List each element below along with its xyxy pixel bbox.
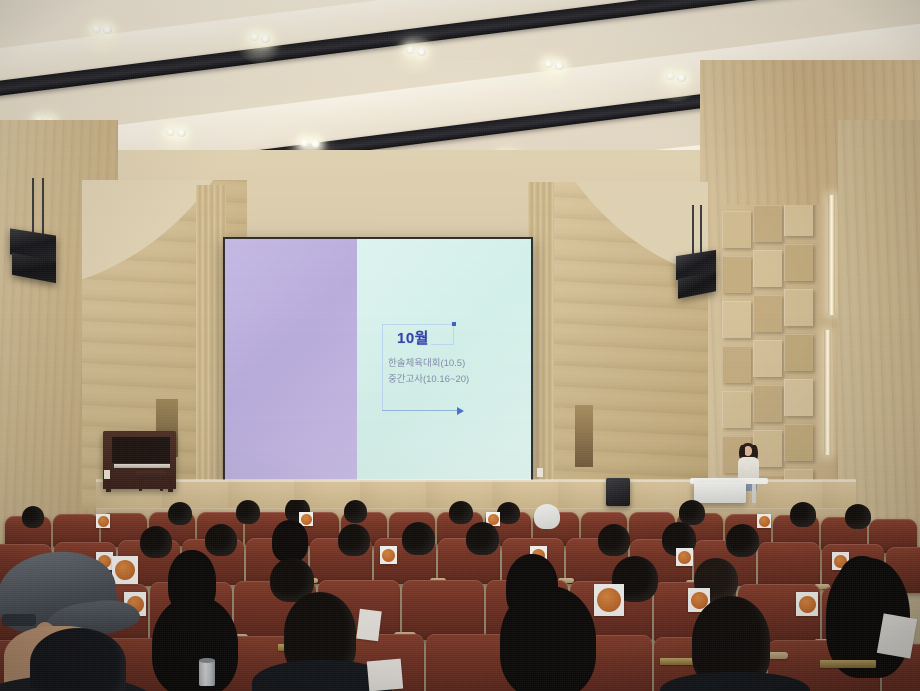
audience-seating xyxy=(0,500,920,691)
slide-bracket-vertical xyxy=(382,324,383,410)
audience-head xyxy=(140,526,172,558)
spotlight-5b xyxy=(677,74,686,82)
audience-head xyxy=(449,501,473,524)
slide-bracket-under-title xyxy=(431,344,454,345)
acoustic-block xyxy=(753,205,782,242)
auditorium-photo: 10월 한솔체육대회(10.5) 중간고사(10.16~20) xyxy=(0,0,920,691)
audience-head xyxy=(790,502,816,527)
speaker-rod xyxy=(42,178,44,240)
spotlight-3a xyxy=(406,46,415,54)
handout-paper[interactable] xyxy=(356,609,381,641)
handout-paper[interactable] xyxy=(877,613,917,658)
wall-outlet-left xyxy=(104,470,110,479)
spotlight-9b xyxy=(311,140,320,148)
audience-head xyxy=(205,524,237,556)
slide-arrow-icon xyxy=(457,407,464,415)
audience-head xyxy=(168,502,192,525)
speaker-rod xyxy=(32,178,34,238)
audience-long-hair xyxy=(272,520,308,562)
spotlight-2b xyxy=(261,35,270,43)
projection-screen: 10월 한솔체육대회(10.5) 중간고사(10.16~20) xyxy=(225,239,531,482)
audience-head xyxy=(845,504,871,529)
slide-left-panel xyxy=(225,239,357,482)
spotlight-8b xyxy=(177,129,186,137)
acoustic-block xyxy=(784,289,813,326)
acoustic-block xyxy=(753,340,782,377)
seat-notice-sticker xyxy=(380,546,397,564)
foreground-student-hair xyxy=(152,596,238,691)
acoustic-block xyxy=(722,346,751,383)
sticker-badge xyxy=(301,514,312,525)
seat-notice-sticker xyxy=(676,548,693,566)
wall-light-slit-2 xyxy=(824,330,831,455)
slide-bracket-top xyxy=(382,324,454,325)
seat-nameplate xyxy=(820,660,876,668)
foreground-student-hair xyxy=(500,586,596,691)
audience-head xyxy=(338,524,370,556)
beverage-can[interactable] xyxy=(199,660,215,686)
speaker-rod xyxy=(692,205,694,257)
spotlight-2a xyxy=(250,33,259,41)
bench-leg-left xyxy=(139,478,142,491)
sticker-badge xyxy=(759,516,770,527)
sticker-badge xyxy=(382,549,395,562)
presenter-face xyxy=(744,446,752,456)
spotlight-1b xyxy=(103,26,112,34)
can-lid xyxy=(199,658,215,663)
acoustic-block xyxy=(722,391,751,428)
speaker-rod xyxy=(700,205,702,259)
line-array-speaker-right xyxy=(676,205,736,315)
audience-head xyxy=(236,500,260,524)
spotlight-5a xyxy=(666,72,675,80)
piano-keyboard xyxy=(114,464,170,468)
seat-notice-sticker xyxy=(796,592,818,616)
arch-right-door-recess xyxy=(575,405,593,467)
wall-light-slit-1 xyxy=(828,195,835,315)
audience-head xyxy=(598,524,630,556)
sticker-badge xyxy=(597,588,621,612)
sticker-badge xyxy=(678,551,691,564)
seat-notice-sticker xyxy=(757,514,771,528)
seat-back[interactable] xyxy=(758,542,820,588)
audience-head xyxy=(679,500,705,525)
spotlight-4b xyxy=(555,62,564,70)
acoustic-block xyxy=(784,205,813,236)
spotlight-1a xyxy=(92,25,101,33)
audience-head xyxy=(497,502,520,524)
handout-paper[interactable] xyxy=(367,659,403,691)
acoustic-block xyxy=(753,295,782,332)
audience-head xyxy=(726,524,759,557)
acoustic-block xyxy=(753,250,782,287)
audience-head-covering xyxy=(534,504,560,529)
audience-head xyxy=(344,500,367,523)
sticker-badge xyxy=(98,516,109,527)
slide-month-title: 10월 xyxy=(397,327,429,348)
piano-lid-panel xyxy=(112,437,170,463)
wall-outlet-right xyxy=(537,468,543,477)
slide-corner-dot xyxy=(452,322,456,326)
piano-leg-right xyxy=(168,476,173,492)
slide-event-line-2: 중간고사(10.16~20) xyxy=(388,373,469,388)
acoustic-block xyxy=(753,385,782,422)
spotlight-9a xyxy=(300,139,309,147)
spotlight-4a xyxy=(544,60,553,68)
slide-baseline xyxy=(382,410,458,411)
line-array-speaker-left xyxy=(8,178,80,298)
foreground-head-silhouette xyxy=(30,628,126,691)
seat-notice-sticker xyxy=(594,584,624,616)
audience-head xyxy=(466,522,499,555)
cap-back-strap xyxy=(2,614,36,626)
slide-bracket-right xyxy=(453,324,454,344)
spotlight-3b xyxy=(417,48,426,56)
audience-head xyxy=(22,506,44,528)
acoustic-block xyxy=(784,244,813,281)
audience-head xyxy=(402,522,435,555)
acoustic-block xyxy=(784,424,813,461)
seat-back[interactable] xyxy=(402,580,484,640)
sticker-badge xyxy=(799,596,816,613)
slide-event-line-1: 한솔체육대회(10.5) xyxy=(388,357,465,372)
spotlight-8a xyxy=(166,128,175,136)
seat-notice-sticker xyxy=(96,514,110,528)
left-slat-column xyxy=(196,185,226,495)
acoustic-block xyxy=(784,379,813,416)
bench-leg-right xyxy=(160,478,163,491)
acoustic-block xyxy=(784,334,813,371)
